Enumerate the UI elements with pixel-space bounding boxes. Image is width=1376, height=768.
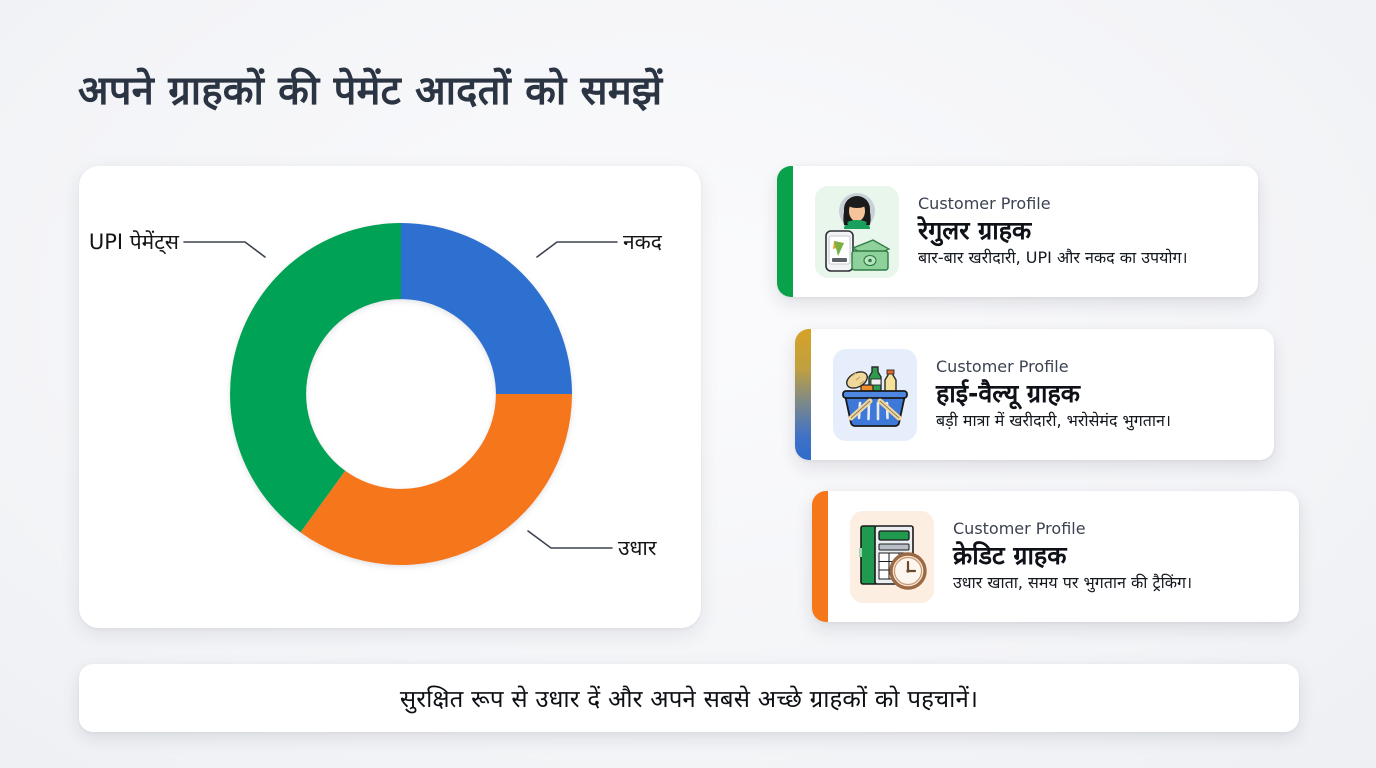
page-title: अपने ग्राहकों की पेमेंट आदतों को समझें xyxy=(78,66,662,116)
profile-text-block: Customer Profile क्रेडिट ग्राहक उधार खात… xyxy=(953,519,1192,594)
profile-description: बड़ी मात्रा में खरीदारी, भरोसेमंद भुगतान… xyxy=(936,411,1171,432)
customer-profile-card-credit[interactable]: Customer Profile क्रेडिट ग्राहक उधार खात… xyxy=(812,491,1299,622)
donut-slice-credit[interactable] xyxy=(300,394,572,565)
shopping-basket-icon xyxy=(833,349,917,441)
donut-label-upi: UPI पेमेंट्स xyxy=(89,230,180,255)
profile-text-block: Customer Profile हाई-वैल्यू ग्राहक बड़ी … xyxy=(936,357,1171,432)
payment-mix-chart-card: UPI पेमेंट्स नकद उधार xyxy=(79,166,701,628)
woman-phone-cash-icon xyxy=(815,186,899,278)
profile-title: रेगुलर ग्राहक xyxy=(918,215,1188,248)
profile-kicker: Customer Profile xyxy=(918,194,1188,214)
profile-description: उधार खाता, समय पर भुगतान की ट्रैकिंग। xyxy=(953,573,1192,594)
profile-kicker: Customer Profile xyxy=(936,357,1171,377)
donut-label-credit: उधार xyxy=(618,536,657,560)
accent-bar xyxy=(795,329,811,460)
leader-line-credit xyxy=(528,531,612,548)
donut-slices xyxy=(230,223,572,565)
donut-slice-cash[interactable] xyxy=(401,223,572,394)
profile-text-block: Customer Profile रेगुलर ग्राहक बार-बार ख… xyxy=(918,194,1188,269)
ledger-clock-icon xyxy=(850,511,934,603)
profile-description: बार-बार खरीदारी, UPI और नकद का उपयोग। xyxy=(918,248,1188,269)
banner-text: सुरक्षित रूप से उधार दें और अपने सबसे अच… xyxy=(400,682,978,715)
profile-title: क्रेडिट ग्राहक xyxy=(953,540,1192,573)
bottom-banner: सुरक्षित रूप से उधार दें और अपने सबसे अच… xyxy=(79,664,1299,732)
accent-bar xyxy=(812,491,828,622)
customer-profile-card-high-value[interactable]: Customer Profile हाई-वैल्यू ग्राहक बड़ी … xyxy=(795,329,1274,460)
leader-line-cash xyxy=(537,242,617,257)
accent-bar xyxy=(777,166,793,297)
leader-line-upi xyxy=(184,242,265,257)
donut-chart: UPI पेमेंट्स नकद उधार xyxy=(79,166,701,628)
profile-kicker: Customer Profile xyxy=(953,519,1192,539)
customer-profile-card-regular[interactable]: Customer Profile रेगुलर ग्राहक बार-बार ख… xyxy=(777,166,1258,297)
donut-label-cash: नकद xyxy=(623,230,663,254)
profile-title: हाई-वैल्यू ग्राहक xyxy=(936,378,1171,411)
